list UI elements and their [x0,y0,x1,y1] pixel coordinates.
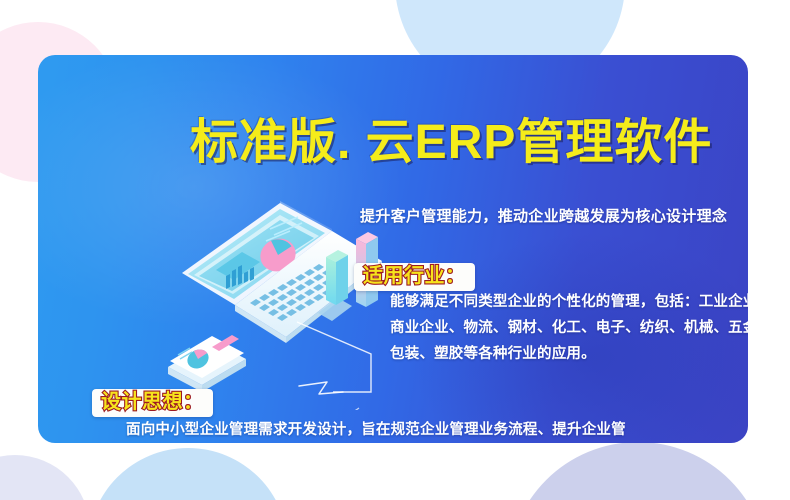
section-heading-design: 设计思想： [92,389,213,417]
page-title: 标准版. 云ERP管理软件 [190,119,748,167]
section-body-industry: 能够满足不同类型企业的个性化的管理，包括：工业企业、商业企业、物流、钢材、化工、… [390,289,748,367]
section-body-design: 面向中小型企业管理需求开发设计，旨在规范企业管理业务流程、提升企业管理能力，为企… [126,417,626,443]
section-heading-industry: 适用行业： [354,263,475,291]
main-card: 标准版. 云ERP管理软件 提升客户管理能力，推动企业跨越发展为核心设计理念 适… [38,55,748,443]
page-subtitle: 提升客户管理能力，推动企业跨越发展为核心设计理念 [360,205,727,226]
decor-circle-lavender-bottom-right [508,442,768,500]
bar-mint [326,250,348,305]
document-stack [168,335,246,392]
promo-banner: 标准版. 云ERP管理软件 提升客户管理能力，推动企业跨越发展为核心设计理念 适… [0,0,790,500]
decor-circle-blue-bottom-left [88,448,288,500]
decor-circle-lavender-bottom-left [0,455,90,500]
